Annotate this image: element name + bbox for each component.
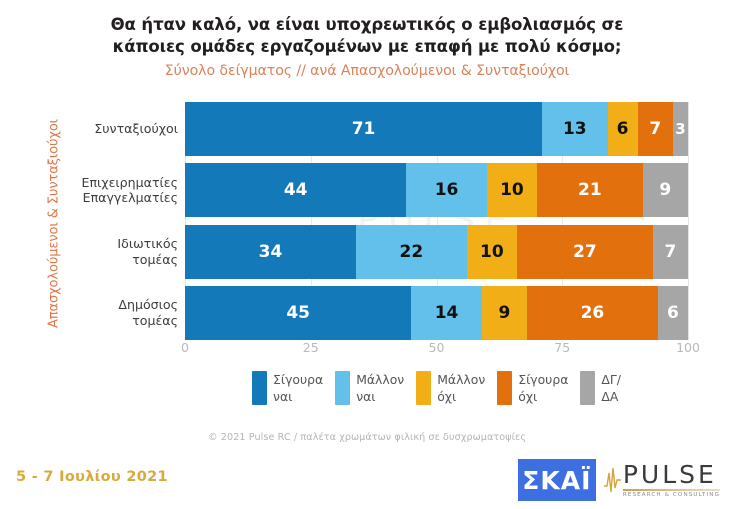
legend-label: ΔΓ/ ΔΑ [601, 371, 621, 405]
skai-logo: ΣΚΑΪ [518, 459, 596, 501]
y-axis-label-1: ΕπιχειρηματίεςΕπαγγελματίες [44, 163, 178, 217]
y-axis-label-3: Δημόσιοςτομέας [44, 286, 178, 340]
gridline-100 [688, 102, 689, 340]
y-axis-category-labels: ΣυνταξιούχοιΕπιχειρηματίεςΕπαγγελματίεςΙ… [44, 102, 178, 340]
bar-row: 342210277 [185, 225, 688, 279]
bar-segment: 9 [643, 163, 688, 217]
bar-segment: 7 [653, 225, 688, 279]
chart-legend: Σίγουρα ναιΜάλλον ναιΜάλλον όχιΣίγουρα ό… [185, 371, 688, 405]
legend-item[interactable]: ΔΓ/ ΔΑ [580, 371, 621, 405]
y-axis-label-2: Ιδιωτικόςτομέας [44, 225, 178, 279]
pulse-logo-text: PULSE [623, 462, 720, 487]
title-line-2: κάποιες ομάδες εργαζομένων με επαφή με π… [52, 36, 682, 58]
x-tick-label: 25 [303, 340, 319, 355]
waveform-icon [604, 464, 621, 496]
bar-segment: 71 [185, 102, 542, 156]
fieldwork-date: 5 - 7 Ιουλίου 2021 [16, 469, 168, 485]
legend-swatch [580, 371, 595, 405]
bar-segment: 16 [406, 163, 486, 217]
bar-segment: 26 [527, 286, 658, 340]
page-title: Θα ήταν καλό, να είναι υποχρεωτικός ο εμ… [0, 14, 734, 58]
legend-item[interactable]: Μάλλον όχι [416, 371, 485, 405]
bar-row: 441610219 [185, 163, 688, 217]
bar-segment: 6 [608, 102, 638, 156]
bar-segment: 14 [411, 286, 481, 340]
pulse-logo: PULSE RESEARCH & CONSULTING [604, 462, 720, 499]
chart-header: Θα ήταν καλό, να είναι υποχρεωτικός ο εμ… [0, 14, 734, 79]
chart-subtitle: Σύνολο δείγματος // ανά Απασχολούμενοι &… [0, 63, 734, 79]
legend-label: Σίγουρα όχι [518, 371, 568, 405]
copyright-note: © 2021 Pulse RC / παλέτα χρωμάτων φιλική… [0, 432, 734, 443]
legend-swatch [497, 371, 512, 405]
x-tick-label: 50 [429, 340, 445, 355]
bar-segment: 9 [482, 286, 527, 340]
bar-segment: 22 [356, 225, 467, 279]
x-tick-label: 0 [181, 340, 189, 355]
pulse-logo-rule [623, 489, 720, 491]
legend-label: Μάλλον όχι [437, 371, 485, 405]
legend-item[interactable]: Μάλλον ναι [335, 371, 404, 405]
skai-logo-text: ΣΚΑΪ [522, 466, 591, 495]
bar-segment: 45 [185, 286, 411, 340]
legend-swatch [416, 371, 431, 405]
bar-segment: 21 [537, 163, 643, 217]
bar-segment: 6 [658, 286, 688, 340]
legend-label: Μάλλον ναι [356, 371, 404, 405]
x-tick-label: 75 [554, 340, 570, 355]
legend-swatch [252, 371, 267, 405]
y-axis-label-0: Συνταξιούχοι [44, 102, 178, 156]
bar-segment: 34 [185, 225, 356, 279]
legend-item[interactable]: Σίγουρα όχι [497, 371, 568, 405]
bar-rows: 711367344161021934221027745149266 [185, 102, 688, 340]
bar-segment: 13 [542, 102, 607, 156]
legend-item[interactable]: Σίγουρα ναι [252, 371, 323, 405]
stacked-bar-chart: PULSE RESEARCH & CONSULTING 711367344161… [185, 102, 688, 340]
bar-segment: 27 [517, 225, 653, 279]
footer-logos: ΣΚΑΪ PULSE RESEARCH & CONSULTING [518, 459, 720, 501]
bar-segment: 7 [638, 102, 673, 156]
bar-segment: 3 [673, 102, 688, 156]
pulse-logo-tagline: RESEARCH & CONSULTING [623, 493, 720, 499]
legend-swatch [335, 371, 350, 405]
bar-segment: 44 [185, 163, 406, 217]
bar-row: 7113673 [185, 102, 688, 156]
x-tick-label: 100 [676, 340, 700, 355]
bar-row: 45149266 [185, 286, 688, 340]
legend-label: Σίγουρα ναι [273, 371, 323, 405]
title-line-1: Θα ήταν καλό, να είναι υποχρεωτικός ο εμ… [52, 14, 682, 36]
x-axis-ticks: 0255075100 [185, 340, 688, 360]
bar-segment: 10 [467, 225, 517, 279]
bar-segment: 10 [487, 163, 537, 217]
